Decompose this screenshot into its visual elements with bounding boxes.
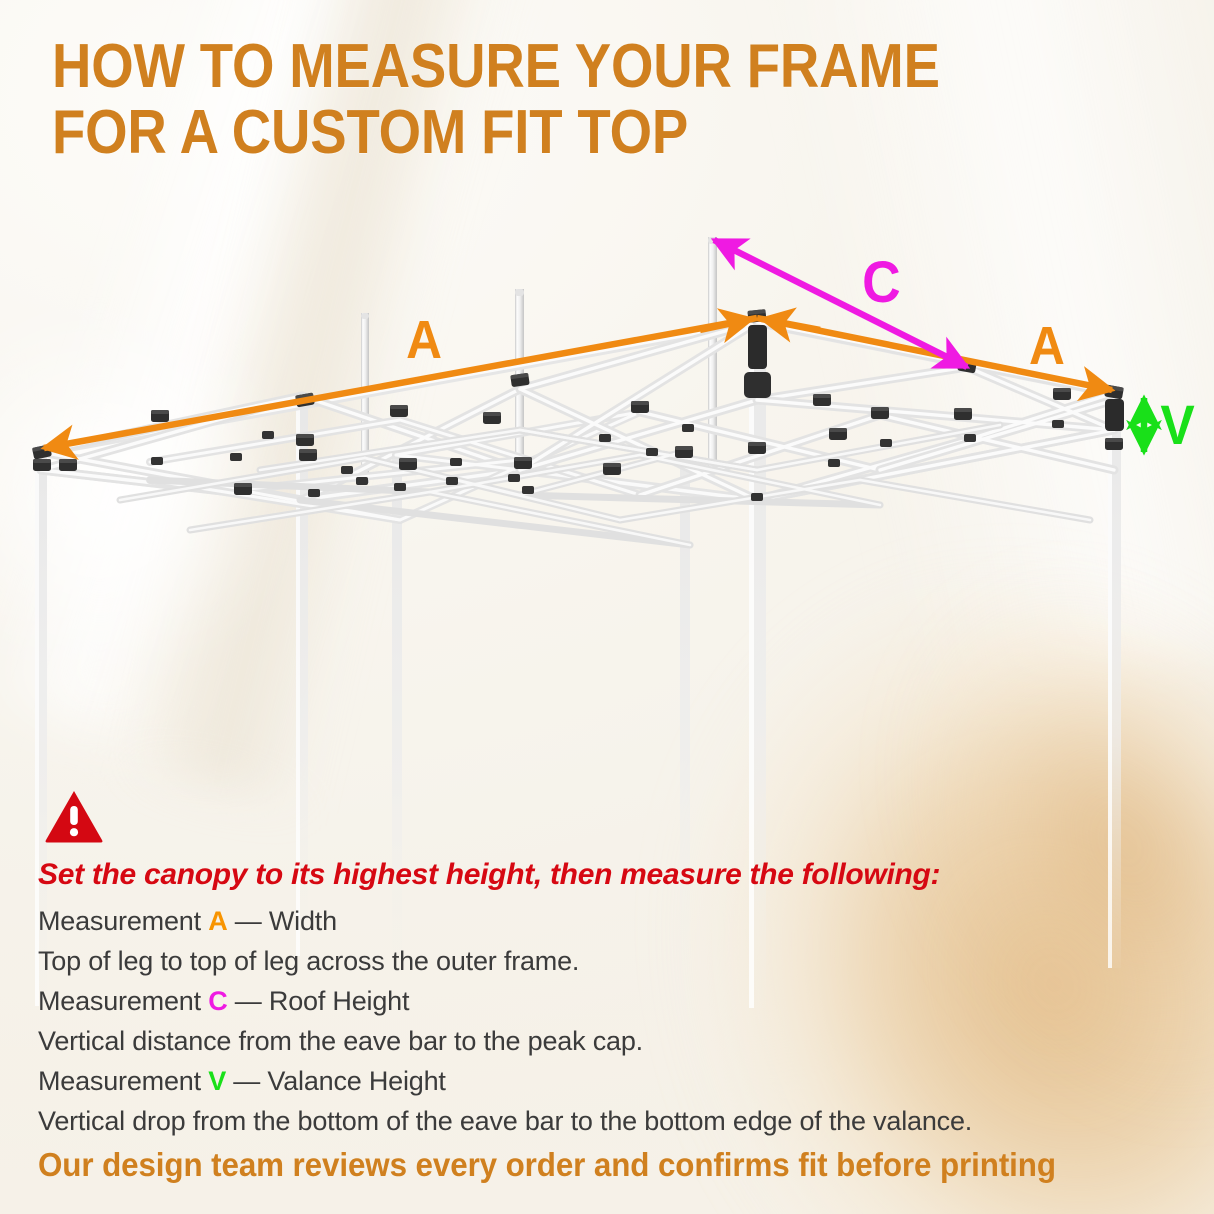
instruction-v-suffix: — Valance Height [226,1066,446,1096]
instruction-c-suffix: — Roof Height [228,986,410,1016]
warning-triangle-icon [44,788,104,844]
page-title-line-1: HOW TO MEASURE YOUR FRAME [52,34,932,100]
measurement-tag-v: V [208,1066,226,1096]
instruction-a-prefix: Measurement [38,906,208,936]
page-title-line-2: FOR A CUSTOM FIT TOP [52,100,932,166]
measurement-tag-c: C [208,986,227,1016]
instruction-c-prefix: Measurement [38,986,208,1016]
warning-lead-text: Set the canopy to its highest height, th… [38,855,1188,895]
measurement-tag-a: A [208,906,227,936]
instruction-detail-v: Vertical drop from the bottom of the eav… [38,1101,1188,1141]
instruction-heading-a: Measurement A — Width [38,901,1188,941]
instruction-detail-c: Vertical distance from the eave bar to t… [38,1021,1188,1061]
instruction-v-prefix: Measurement [38,1066,208,1096]
footer-note: Our design team reviews every order and … [38,1143,1131,1187]
instruction-heading-v: Measurement V — Valance Height [38,1061,1188,1101]
instructions-block: Set the canopy to its highest height, th… [38,855,1188,1187]
instruction-a-suffix: — Width [228,906,337,936]
page-title: HOW TO MEASURE YOUR FRAME FOR A CUSTOM F… [52,34,1052,166]
instruction-detail-a: Top of leg to top of leg across the oute… [38,941,1188,981]
instruction-heading-c: Measurement C — Roof Height [38,981,1188,1021]
infographic-page: HOW TO MEASURE YOUR FRAME FOR A CUSTOM F… [0,0,1214,1214]
background-highlight [0,230,360,750]
